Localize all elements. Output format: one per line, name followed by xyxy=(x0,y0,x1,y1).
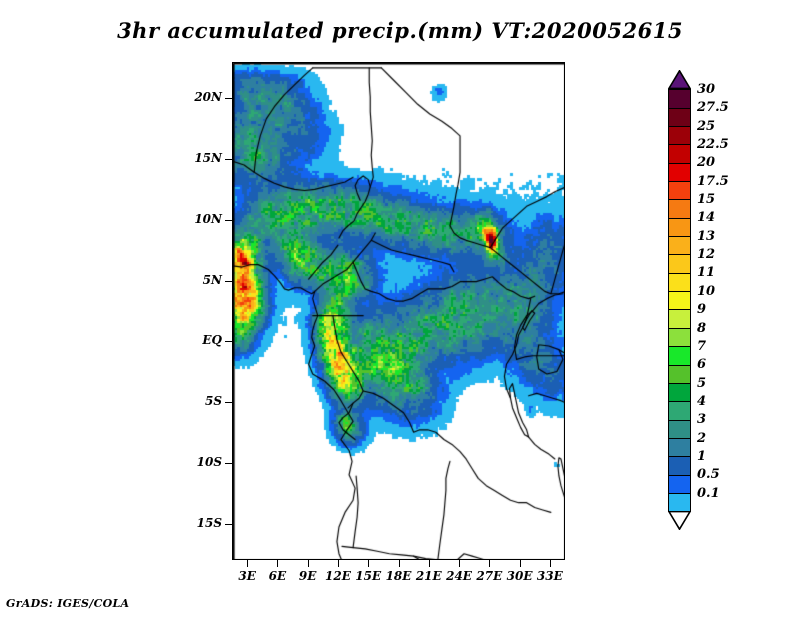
colorbar-swatch xyxy=(668,236,691,256)
x-axis-tick xyxy=(520,560,521,567)
y-axis-label: EQ xyxy=(160,333,222,347)
colorbar-swatch xyxy=(668,181,691,201)
colorbar-tick-label: 12 xyxy=(697,247,715,262)
colorbar-swatch xyxy=(668,401,691,421)
colorbar-swatch xyxy=(668,144,691,164)
colorbar-tick-label: 15 xyxy=(697,192,715,207)
x-axis-tick xyxy=(399,560,400,567)
page-title: 3hr accumulated precip.(mm) VT:202005261… xyxy=(0,18,800,43)
colorbar-tick-label: 8 xyxy=(697,321,706,336)
y-axis-tick xyxy=(225,281,232,282)
y-axis-label: 15S xyxy=(160,516,222,530)
colorbar-tick-label: 4 xyxy=(697,394,706,409)
colorbar-tick-label: 6 xyxy=(697,357,706,372)
y-axis-tick xyxy=(225,341,232,342)
y-axis-label: 15N xyxy=(160,151,222,165)
colorbar-tick-label: 0.1 xyxy=(697,486,720,501)
y-axis-label: 10N xyxy=(160,212,222,226)
colorbar-tick-label: 14 xyxy=(697,210,715,225)
colorbar-tick-label: 0.5 xyxy=(697,467,720,482)
colorbar-swatch xyxy=(668,438,691,458)
x-axis-tick xyxy=(308,560,309,567)
y-axis-tick xyxy=(225,463,232,464)
grads-credit-label: GrADS: IGES/COLA xyxy=(6,597,129,610)
colorbar-tick-label: 22.5 xyxy=(697,137,729,152)
colorbar-swatch xyxy=(668,217,691,237)
colorbar-under-arrow-icon xyxy=(668,511,691,530)
colorbar-swatch xyxy=(668,254,691,274)
y-axis-tick xyxy=(225,159,232,160)
x-axis-tick xyxy=(489,560,490,567)
colorbar-swatch xyxy=(668,199,691,219)
x-axis-tick xyxy=(338,560,339,567)
colorbar-swatch xyxy=(668,493,691,513)
colorbar-swatch xyxy=(668,474,691,494)
colorbar-swatch xyxy=(668,456,691,476)
x-axis-label: 33E xyxy=(530,569,570,583)
y-axis-tick xyxy=(225,220,232,221)
country-borders-coastline-layer xyxy=(233,63,564,559)
y-axis-label: 10S xyxy=(160,455,222,469)
colorbar-tick-label: 1 xyxy=(697,449,706,464)
colorbar-swatch xyxy=(668,328,691,348)
colorbar-tick-label: 13 xyxy=(697,229,715,244)
colorbar-tick-label: 7 xyxy=(697,339,706,354)
colorbar-tick-label: 17.5 xyxy=(697,174,729,189)
colorbar-swatch xyxy=(668,89,691,109)
colorbar-swatch xyxy=(668,126,691,146)
colorbar-swatch xyxy=(668,309,691,329)
colorbar-tick-label: 9 xyxy=(697,302,706,317)
colorbar: 0.10.512345678910111213141517.52022.5252… xyxy=(668,70,691,530)
x-axis-tick xyxy=(277,560,278,567)
colorbar-swatch xyxy=(668,107,691,127)
x-axis-tick xyxy=(247,560,248,567)
colorbar-swatch xyxy=(668,272,691,292)
colorbar-tick-label: 25 xyxy=(697,119,715,134)
colorbar-tick-label: 30 xyxy=(697,82,715,97)
map-canvas-wrapper xyxy=(233,63,564,559)
colorbar-tick-label: 27.5 xyxy=(697,100,729,115)
colorbar-tick-label: 11 xyxy=(697,265,715,280)
x-axis-tick xyxy=(550,560,551,567)
y-axis-label: 20N xyxy=(160,90,222,104)
x-axis-tick xyxy=(459,560,460,567)
x-axis-tick xyxy=(429,560,430,567)
colorbar-tick-label: 2 xyxy=(697,431,706,446)
colorbar-swatch xyxy=(668,346,691,366)
y-axis-tick xyxy=(225,402,232,403)
y-axis-label: 5N xyxy=(160,273,222,287)
map-plot-area xyxy=(232,62,565,560)
colorbar-swatch xyxy=(668,419,691,439)
colorbar-swatch xyxy=(668,364,691,384)
colorbar-tick-label: 10 xyxy=(697,284,715,299)
y-axis-tick xyxy=(225,98,232,99)
colorbar-swatch xyxy=(668,162,691,182)
colorbar-tick-label: 5 xyxy=(697,376,706,391)
colorbar-swatch xyxy=(668,291,691,311)
colorbar-swatch xyxy=(668,383,691,403)
colorbar-tick-label: 20 xyxy=(697,155,715,170)
colorbar-tick-label: 3 xyxy=(697,412,706,427)
y-axis-tick xyxy=(225,524,232,525)
colorbar-over-arrow-icon xyxy=(668,70,691,89)
x-axis-tick xyxy=(368,560,369,567)
y-axis-label: 5S xyxy=(160,394,222,408)
